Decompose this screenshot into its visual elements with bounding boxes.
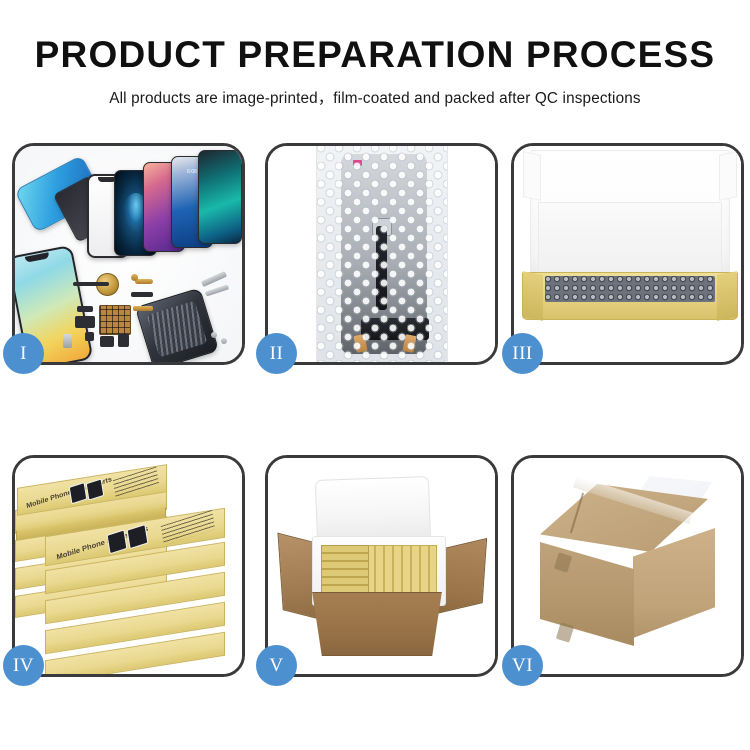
screw-icon [131,274,138,281]
box-stack: Mobile Phone Spare Parts Mobile Phone Sp… [15,458,242,674]
header: PRODUCT PREPARATION PROCESS All products… [0,36,750,108]
box-spec-text-1 [113,466,159,497]
sensor-icon [85,332,94,341]
bubble-wrap-bag [316,146,448,362]
white-foam-sheet [538,202,722,276]
page-title: PRODUCT PREPARATION PROCESS [0,36,750,75]
speaker-icon [100,336,114,347]
step-panel-5: V [265,455,498,677]
box-spec-text-2 [161,510,215,546]
earpiece-mesh-icon [73,282,109,286]
small-flex-icon [77,306,93,312]
sealed-carton-scene [514,458,741,674]
carton-body [308,592,446,656]
step-panel-1: I [12,143,245,365]
step-1-image [15,146,242,362]
bubble-texture [317,146,447,362]
step-badge-4: IV [3,645,44,686]
stacked-boxes-scene: Mobile Phone Spare Parts Mobile Phone Sp… [15,458,242,674]
phones-and-parts-scene [15,146,242,362]
page-subtitle: All products are image-printed，film-coat… [0,86,750,108]
power-flex-icon [131,292,153,297]
step-5-image [268,458,495,674]
open-box-with-foam-scene [514,146,741,362]
antenna-flex-icon [133,306,153,311]
yellow-boxes-stacked-left [321,545,369,595]
carton-handle-notch-bottom [556,622,574,642]
step-3-image [514,146,741,362]
step-badge-3: III [502,333,543,374]
step-panel-3: III [511,143,744,365]
screwdriver-icon [205,284,229,296]
step-panel-4: Mobile Phone Spare Parts Mobile Phone Sp… [12,455,245,677]
chip-array-icon [99,305,131,335]
box-art-screen-3 [107,529,128,554]
tray-right-lip [717,271,737,321]
step-6-image [514,458,741,674]
screw-small-2-icon [221,338,227,344]
flex-button-icon [135,279,153,284]
bubble-wrapped-lcd-scene [268,146,495,362]
carton-front-face [540,542,634,646]
step-badge-2: II [256,333,297,374]
spare-parts-group [15,146,242,362]
step-badge-6: VI [502,645,543,686]
gray-bubble-wrap-contents [545,276,715,302]
step-badge-1: I [3,333,44,374]
step-badge-5: V [256,645,297,686]
box-art-screen-1 [69,482,88,504]
sim-tray-icon [63,334,72,348]
yellow-box-tray [522,272,738,320]
screw-small-icon [211,332,217,338]
product-preparation-infographic: PRODUCT PREPARATION PROCESS All products… [0,0,750,750]
box-art-screen-2 [86,478,105,500]
step-4-image: Mobile Phone Spare Parts Mobile Phone Sp… [15,458,242,674]
step-2-image [268,146,495,362]
box-art-screen-4 [127,524,149,549]
camera-module-icon [75,316,95,328]
steps-grid: I [3,143,747,683]
carton-packing-scene [268,458,495,674]
step-panel-6: VI [511,455,744,677]
step-panel-2: II [265,143,498,365]
taptic-engine-icon [118,334,129,347]
tray-left-lip [523,271,543,321]
